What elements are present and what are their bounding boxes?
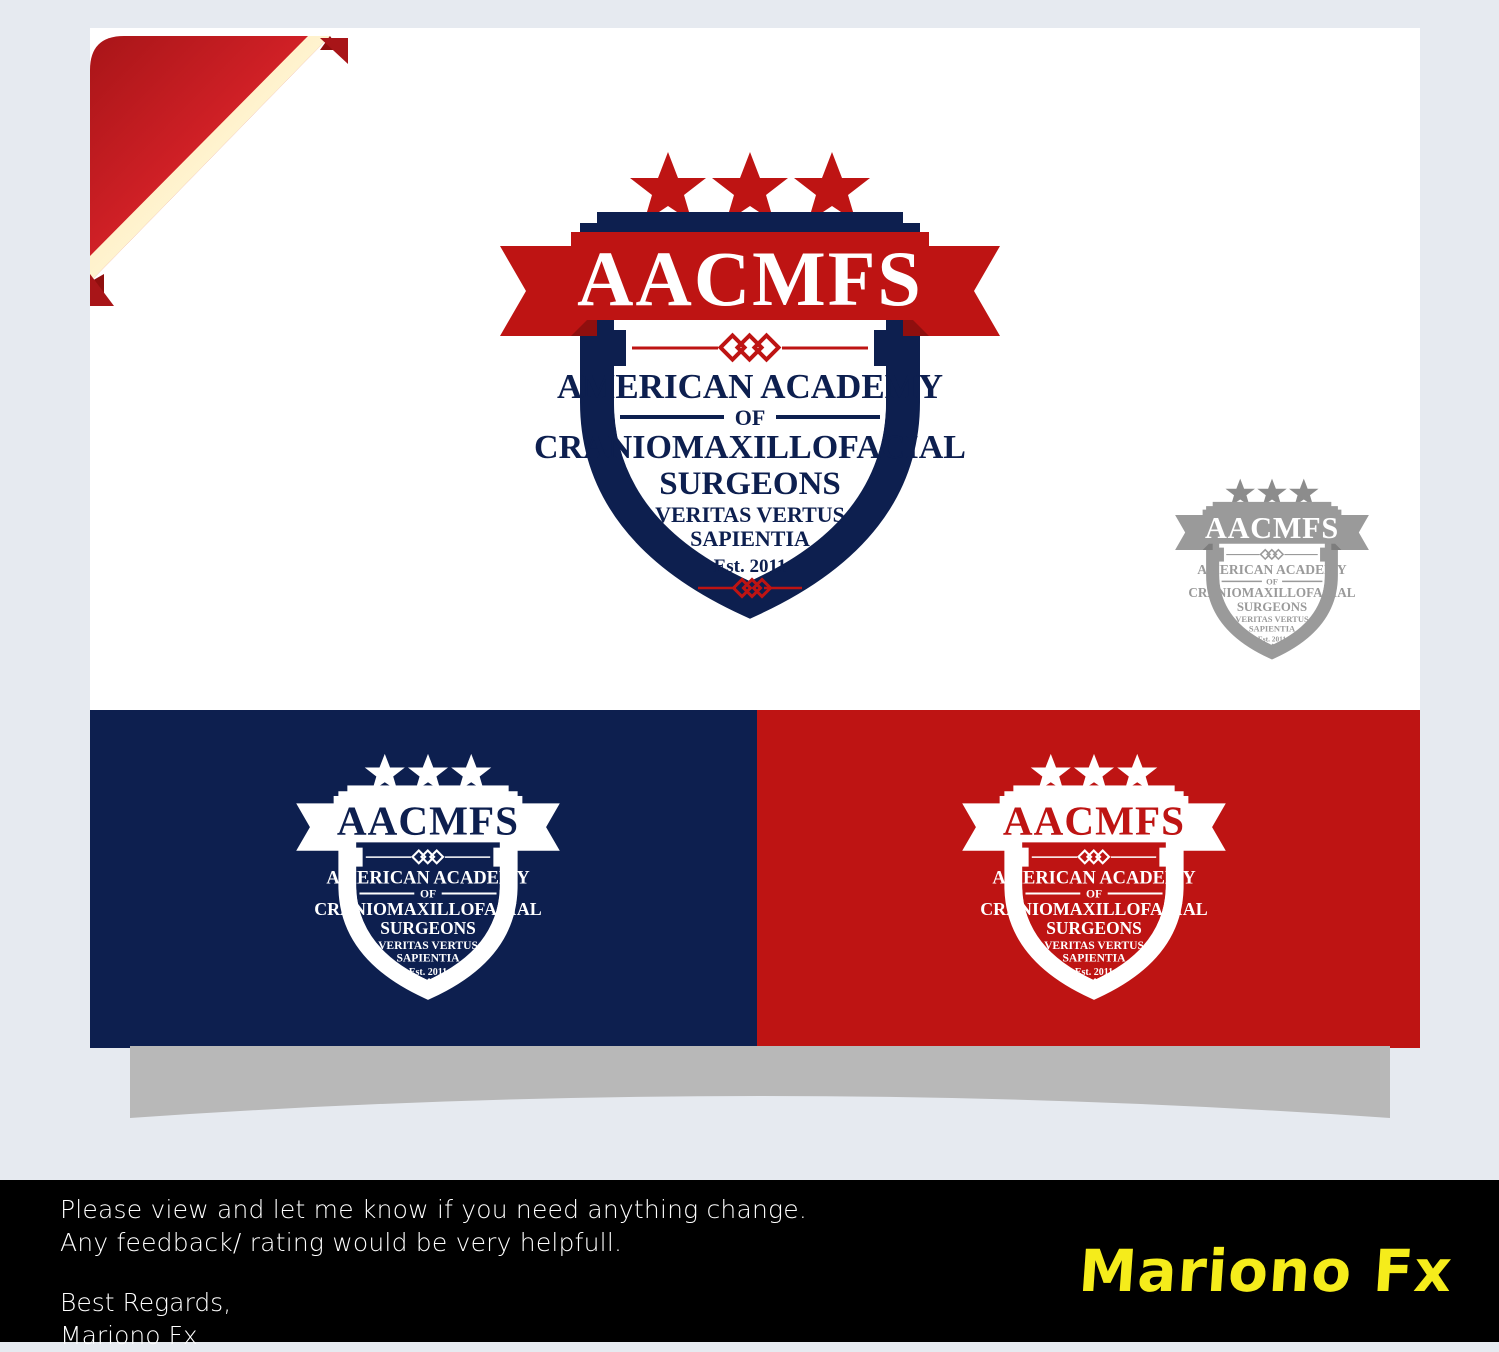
star-group (630, 152, 870, 222)
logo-established: Est. 2011 (1258, 634, 1287, 643)
logo-line4: SURGEONS (1046, 919, 1142, 938)
footer-message: Please view and let me know if you need … (60, 1193, 807, 1259)
logo-primary-color: AACMFS AMERICAN ACADEMY OF CRANIOMAXILL (492, 140, 1008, 620)
logo-motto-line1: VERITAS VERTUS (1235, 614, 1309, 624)
logo-reverse-on-navy: AACMFS AMERICAN ACADEMY OF CRANIOMAXILLO… (292, 738, 564, 1010)
logo-line1: AMERICAN ACADEMY (1197, 562, 1347, 577)
logo-line4: SURGEONS (1237, 600, 1307, 614)
logo-grayscale: AACMFS AMERICAN ACADEMY OF CRANIOMAXILLO… (1172, 462, 1372, 672)
logo-line4: SURGEONS (659, 466, 841, 502)
logo-line3: CRANIOMAXILLOFACIAL (314, 899, 542, 919)
presentation-stage: AACMFS AMERICAN ACADEMY OF CRANIOMAXILL (0, 0, 1499, 1342)
logo-established: Est. 2011 (714, 556, 787, 577)
logo-line3: CRANIOMAXILLOFACIAL (534, 429, 966, 466)
logo-motto-line1: VERITAS VERTUS (378, 939, 478, 952)
panel-drop-shadow (130, 1046, 1390, 1156)
logo-motto-line2: SAPIENTIA (1249, 623, 1296, 633)
logo-line3: CRANIOMAXILLOFACIAL (1188, 585, 1355, 600)
designer-signature: Mariono Fx (1077, 1237, 1455, 1305)
logo-acronym: AACMFS (337, 797, 519, 843)
logo-motto-line2: SAPIENTIA (1062, 952, 1126, 965)
logo-reverse-on-red: AACMFS AMERICAN ACADEMY OF CRANIOMAXILLO… (958, 738, 1230, 1010)
logo-established: Est. 2011 (409, 967, 447, 978)
footer-closing: Best Regards, Mariono Fx (60, 1286, 231, 1352)
logo-motto-line2: SAPIENTIA (396, 952, 460, 965)
logo-line1: AMERICAN ACADEMY (326, 867, 529, 887)
logo-motto-line1: VERITAS VERTUS (1044, 939, 1144, 952)
logo-acronym: AACMFS (577, 235, 923, 322)
logo-line1: AMERICAN ACADEMY (992, 867, 1195, 887)
logo-line3: CRANIOMAXILLOFACIAL (980, 899, 1208, 919)
logo-motto-line1: VERITAS VERTUS (655, 502, 845, 527)
logo-line2: OF (735, 405, 766, 430)
logo-line1: AMERICAN ACADEMY (557, 367, 943, 406)
logo-motto-line2: SAPIENTIA (690, 526, 810, 551)
logo-acronym: AACMFS (1205, 511, 1339, 545)
logo-acronym: AACMFS (1003, 797, 1185, 843)
logo-line4: SURGEONS (380, 919, 476, 938)
logo-established: Est. 2011 (1075, 967, 1113, 978)
